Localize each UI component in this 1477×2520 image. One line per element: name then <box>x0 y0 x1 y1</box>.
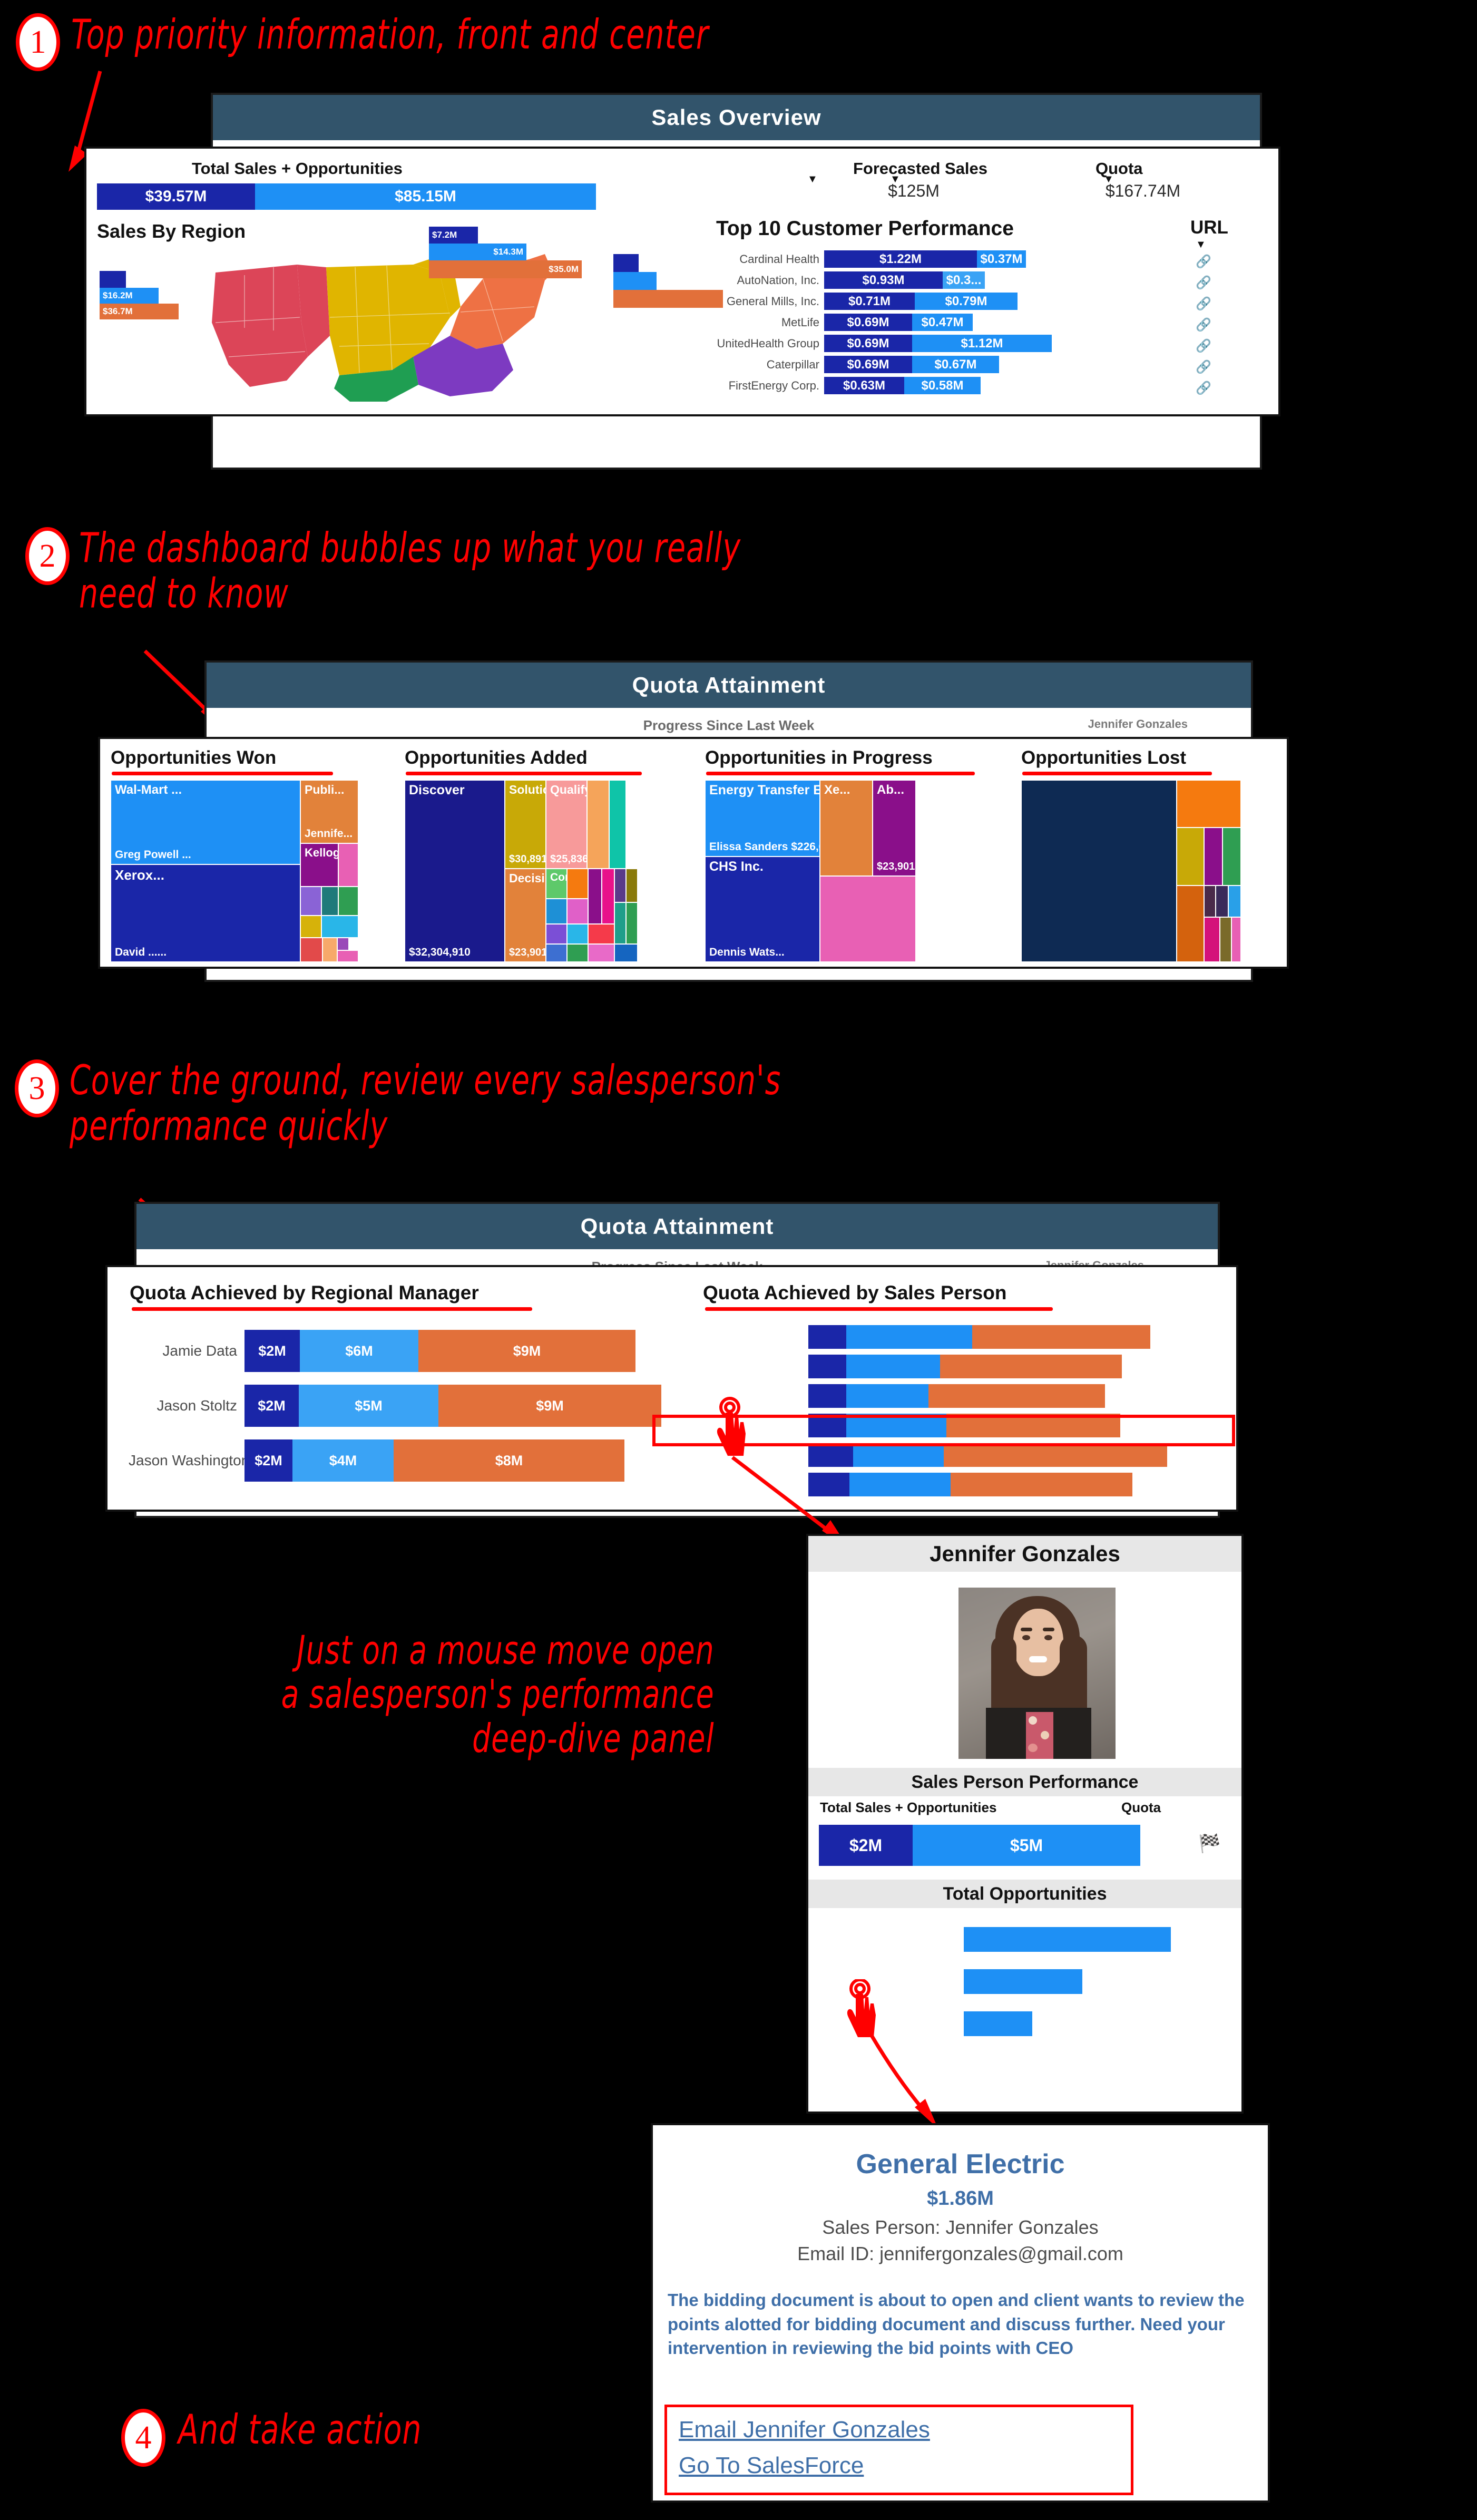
annotation-text-2: The dashboard bubbles up what you really… <box>79 525 741 617</box>
sales-overview-detail-panel[interactable]: Total Sales + Opportunities Forecasted S… <box>84 147 1280 416</box>
title-underline <box>706 772 975 775</box>
sales-segment: $1.22M <box>824 250 977 268</box>
title-underline <box>132 1307 532 1311</box>
treemap-cell <box>300 916 321 938</box>
treemap-cell <box>322 938 337 962</box>
treemap-opportunities-in-progress[interactable]: Energy Transfer Equity... Elissa Sanders… <box>705 780 979 962</box>
treemap-cell <box>614 902 626 944</box>
treemap-cell[interactable]: Kellogg C... <box>300 843 338 887</box>
action-card-message: The bidding document is about to open an… <box>668 2288 1253 2360</box>
treemap-cell <box>321 916 358 938</box>
legend-quota-east <box>613 290 723 308</box>
row-label: Caterpillar <box>711 358 824 372</box>
legend-opportunities-west: $16.2M <box>100 288 159 304</box>
treemap-cell <box>1204 828 1222 886</box>
treemap-cell[interactable] <box>567 944 588 962</box>
opportunities-segment: $0.47M <box>912 314 973 331</box>
map-legend-north: $7.2M $14.3M $35.0M <box>429 227 582 278</box>
sales-segment: $0.63M <box>824 377 904 394</box>
sales-overview-title: Sales Overview <box>213 95 1260 140</box>
treemap-cell[interactable]: Qualify $25,836,8... <box>546 780 587 869</box>
url-column-header: URL <box>1190 217 1228 238</box>
opportunities-segment: $0.37M <box>977 250 1026 268</box>
sales-segment: $2M <box>244 1330 300 1372</box>
quota-bars-detail-panel[interactable]: Quota Achieved by Regional Manager Jamie… <box>105 1265 1238 1512</box>
sales-person-performance-bar[interactable]: $2M $5M <box>819 1825 1140 1866</box>
treemap-cell <box>300 887 321 916</box>
chevron-down-icon-url[interactable]: ▼ <box>1196 239 1206 250</box>
sales-segment <box>808 1384 846 1408</box>
opportunities-segment: $0.58M <box>904 377 981 394</box>
quota-segment <box>951 1473 1132 1496</box>
legend-sales-east <box>613 254 639 272</box>
opportunities-segment <box>846 1325 972 1349</box>
sales-segment: $0.71M <box>824 293 915 310</box>
top10-customer-performance-title: Top 10 Customer Performance <box>716 217 1014 240</box>
regional-manager-chart[interactable]: Jamie Data $2M $6M $9M Jason Stoltz $2M … <box>129 1329 661 1482</box>
url-link-icon-column[interactable]: 🔗 🔗 🔗 🔗 🔗 🔗 🔗 <box>1196 254 1211 402</box>
quota-segment: $8M <box>394 1439 624 1482</box>
chevron-down-icon-total-sales[interactable]: ▼ <box>807 174 818 184</box>
row-label: Cardinal Health <box>711 252 824 266</box>
treemap-cell[interactable] <box>1177 780 1241 828</box>
legend-quota-west: $36.7M <box>100 304 179 319</box>
table-row[interactable]: Jason Washington $2M $4M $8M <box>129 1439 661 1482</box>
table-row[interactable]: Jason Stoltz $2M $5M $9M <box>129 1384 661 1427</box>
row-label: General Mills, Inc. <box>711 295 824 308</box>
treemap-cell[interactable] <box>546 944 567 962</box>
treemap-cell <box>1204 917 1220 962</box>
action-card-amount: $1.86M <box>653 2187 1268 2210</box>
annotation-badge-2: 2 <box>25 527 70 585</box>
link-icon[interactable]: 🔗 <box>1196 317 1211 338</box>
table-row[interactable]: Cardinal Health $1.22M $0.37M <box>711 250 1052 268</box>
sales-by-region-title: Sales By Region <box>97 220 246 242</box>
legend-opportunities-north: $14.3M <box>429 244 526 260</box>
treemap-title-won: Opportunities Won <box>111 747 276 768</box>
treemap-cell[interactable]: Ab... $23,901,... <box>873 780 916 876</box>
sales-segment: $2M <box>244 1439 292 1482</box>
opportunities-segment: $0.79M <box>915 293 1018 310</box>
treemap-cell[interactable] <box>1177 886 1204 962</box>
perf-label-total-sales: Total Sales + Opportunities <box>820 1799 996 1816</box>
sales-person-title: Quota Achieved by Sales Person <box>703 1282 1006 1304</box>
deep-dive-person-name: Jennifer Gonzales <box>808 1536 1241 1572</box>
treemap-cell[interactable]: Xerox... David ...... <box>111 864 300 962</box>
opportunity-bar <box>964 2011 1032 2036</box>
regional-manager-title: Quota Achieved by Regional Manager <box>130 1282 479 1304</box>
kpi-value-quota: $167.74M <box>1064 181 1222 201</box>
treemap-cell <box>588 944 614 962</box>
treemap-cell[interactable]: Discover $32,304,910 <box>405 780 505 962</box>
opportunities-segment: $6M <box>300 1330 418 1372</box>
link-icon[interactable]: 🔗 <box>1196 381 1211 402</box>
kpi-label-forecasted-sales: Forecasted Sales <box>853 159 987 178</box>
table-row[interactable]: MetLife $0.69M $0.47M <box>711 313 1052 332</box>
total-sales-segment: $39.57M <box>97 183 255 210</box>
annotation-text-mouse-move: Just on a mouse move open a salesperson'… <box>21 1629 715 1762</box>
link-icon[interactable]: 🔗 <box>1196 296 1211 317</box>
treemap-cell <box>1216 886 1228 917</box>
action-card-company: General Electric <box>653 2148 1268 2180</box>
table-row[interactable] <box>819 1926 1175 1952</box>
kpi-label-total-sales: Total Sales + Opportunities <box>192 159 403 178</box>
checkered-flag-icon: 🏁 <box>1198 1833 1220 1854</box>
title-underline <box>705 1307 1053 1311</box>
treemap-cell <box>588 924 614 944</box>
opportunities-segment: $5M <box>299 1385 438 1427</box>
treemap-cell <box>321 887 338 916</box>
top10-bar-list[interactable]: Cardinal Health $1.22M $0.37M AutoNation… <box>711 250 1052 395</box>
treemap-opportunities-won[interactable]: Wal-Mart ... Greg Powell ... Xerox... Da… <box>111 780 385 962</box>
treemap-cell <box>300 938 322 962</box>
table-row[interactable] <box>671 1354 1167 1379</box>
link-icon[interactable]: 🔗 <box>1196 254 1211 275</box>
treemap-cell <box>1222 828 1241 886</box>
treemap-opportunities-lost[interactable] <box>1021 780 1269 962</box>
treemap-cell <box>338 843 358 887</box>
treemap-cell[interactable]: Solution $30,891,310 <box>505 780 546 869</box>
opportunities-segment: $0.3... <box>943 271 985 289</box>
table-row[interactable] <box>671 1324 1167 1349</box>
opportunities-segment: $0.67M <box>912 356 999 373</box>
annotation-badge-3: 3 <box>15 1059 59 1117</box>
perf-opportunities-segment: $5M <box>913 1825 1140 1866</box>
quota-attainment-user: Jennifer Gonzales <box>1088 717 1188 731</box>
action-card-email: Email ID: jennifergonzales@gmail.com <box>653 2243 1268 2265</box>
sales-segment: $0.93M <box>824 271 943 289</box>
treemap-detail-panel[interactable]: Opportunities Won Opportunities Added Op… <box>98 737 1289 969</box>
treemap-title-progress: Opportunities in Progress <box>705 747 933 768</box>
treemap-cell <box>1231 917 1241 962</box>
treemap-cell <box>587 780 609 869</box>
quota-segment <box>940 1355 1122 1378</box>
annotation-text-3: Cover the ground, review every salespers… <box>70 1057 781 1149</box>
treemap-cell <box>609 780 626 869</box>
action-card[interactable]: General Electric $1.86M Sales Person: Je… <box>651 2123 1270 2503</box>
treemap-cell[interactable]: Decisi... $23,901,... <box>505 869 546 962</box>
quota-segment <box>972 1325 1150 1349</box>
title-underline <box>406 772 642 775</box>
opportunities-segment: $4M <box>292 1439 394 1482</box>
total-sales-bar[interactable]: $39.57M $85.15M <box>97 183 596 210</box>
treemap-cell[interactable] <box>567 924 588 944</box>
legend-opportunities-east <box>613 272 657 290</box>
treemap-cell <box>337 950 358 962</box>
treemap-cell[interactable] <box>546 924 567 944</box>
perf-sales-segment: $2M <box>819 1825 913 1866</box>
treemap-cell <box>337 938 349 950</box>
table-row[interactable]: AutoNation, Inc. $0.93M $0.3... <box>711 271 1052 289</box>
legend-sales-west <box>100 271 126 288</box>
table-row[interactable]: General Mills, Inc. $0.71M $0.79M <box>711 292 1052 310</box>
table-row[interactable]: Caterpillar $0.69M $0.67M <box>711 355 1052 374</box>
title-underline <box>1022 772 1212 775</box>
treemap-title-added: Opportunities Added <box>405 747 588 768</box>
action-links-box[interactable]: Email Jennifer Gonzales Go To SalesForce <box>664 2405 1133 2495</box>
table-row[interactable]: Jamie Data $2M $6M $9M <box>129 1329 661 1373</box>
email-jennifer-gonzales-link[interactable]: Email Jennifer Gonzales <box>679 2417 1119 2443</box>
treemap-cell <box>1228 886 1241 917</box>
treemap-cell[interactable]: Publi... Jennife... <box>300 780 358 843</box>
treemap-cell[interactable] <box>546 899 567 924</box>
annotation-text-1: Top priority information, front and cent… <box>71 12 709 57</box>
treemap-cell <box>1220 917 1231 962</box>
annotation-arrow-to-action <box>864 2029 959 2135</box>
sales-segment: $0.69M <box>824 314 912 331</box>
treemap-cell <box>1204 886 1216 917</box>
quota-segment <box>944 1443 1167 1467</box>
row-label: Jason Washington <box>129 1452 244 1469</box>
sales-segment: $0.69M <box>824 356 912 373</box>
opportunities-segment <box>846 1355 940 1378</box>
row-label: Jamie Data <box>129 1342 244 1359</box>
row-label: UnitedHealth Group <box>711 337 824 351</box>
map-legend-west: $16.2M $36.7M <box>100 271 179 319</box>
sales-person-performance-band: Sales Person Performance <box>808 1768 1241 1796</box>
treemap-cell <box>588 869 602 924</box>
legend-quota-north: $35.0M <box>429 260 582 278</box>
link-icon[interactable]: 🔗 <box>1196 338 1211 359</box>
opportunities-segment: $1.12M <box>912 335 1052 352</box>
avatar <box>958 1588 1116 1759</box>
treemap-cell <box>338 887 358 916</box>
treemap-cell[interactable]: Energy Transfer Equity... Elissa Sanders… <box>705 780 820 857</box>
treemap-cell[interactable] <box>820 876 916 962</box>
total-opportunities-segment: $85.15M <box>255 183 596 210</box>
map-legend-east <box>613 254 723 308</box>
treemap-cell <box>626 902 638 944</box>
annotation-text-4: And take action <box>178 2407 422 2453</box>
treemap-cell[interactable]: CHS Inc. Dennis Wats... <box>705 857 820 962</box>
quota-segment: $9M <box>418 1330 635 1372</box>
treemap-cell <box>626 869 638 902</box>
opportunity-bar <box>964 1927 1171 1952</box>
treemap-opportunities-added[interactable]: Discover $32,304,910 Solution $30,891,31… <box>405 780 679 962</box>
row-label: AutoNation, Inc. <box>711 274 824 287</box>
title-underline <box>112 772 333 775</box>
link-icon[interactable]: 🔗 <box>1196 359 1211 381</box>
total-opportunities-band: Total Opportunities <box>808 1880 1241 1908</box>
quota-attainment-title: Quota Attainment <box>207 663 1251 708</box>
treemap-cell <box>614 944 638 962</box>
table-row[interactable]: UnitedHealth Group $0.69M $1.12M <box>711 334 1052 353</box>
treemap-cell[interactable]: Wal-Mart ... Greg Powell ... <box>111 780 300 864</box>
treemap-cell <box>602 869 614 924</box>
opportunities-segment <box>846 1384 928 1408</box>
treemap-title-lost: Opportunities Lost <box>1021 747 1186 768</box>
sales-segment <box>808 1325 846 1349</box>
treemap-cell[interactable]: Xe... <box>820 780 873 876</box>
treemap-cell <box>614 869 626 902</box>
row-label: MetLife <box>711 316 824 329</box>
opportunity-bar <box>964 1969 1082 1994</box>
table-row[interactable]: FirstEnergy Corp. $0.63M $0.58M <box>711 376 1052 395</box>
quota-attainment-title-2: Quota Attainment <box>136 1204 1218 1249</box>
opportunities-segment <box>849 1473 951 1496</box>
annotation-badge-1: 1 <box>16 13 60 71</box>
kpi-label-quota: Quota <box>1095 159 1143 178</box>
treemap-cell[interactable] <box>567 869 588 899</box>
sales-segment <box>808 1355 846 1378</box>
legend-sales-north: $7.2M <box>429 227 478 244</box>
treemap-cell[interactable] <box>1177 828 1204 886</box>
opportunities-segment <box>853 1443 944 1467</box>
quota-segment: $9M <box>438 1385 661 1427</box>
action-card-salesperson: Sales Person: Jennifer Gonzales <box>653 2216 1268 2239</box>
treemap-cell[interactable]: Commit <box>546 869 567 899</box>
treemap-cell[interactable] <box>1021 780 1177 962</box>
annotation-badge-4: 4 <box>121 2409 165 2467</box>
quota-segment <box>928 1384 1105 1408</box>
kpi-value-forecasted-sales: $125M <box>845 181 982 201</box>
perf-label-quota: Quota <box>1121 1799 1161 1816</box>
link-icon[interactable]: 🔗 <box>1196 275 1211 296</box>
treemap-cell[interactable] <box>567 899 588 924</box>
row-label: Jason Stoltz <box>129 1397 244 1414</box>
row-label: FirstEnergy Corp. <box>711 379 824 393</box>
sales-segment: $0.69M <box>824 335 912 352</box>
go-to-salesforce-link[interactable]: Go To SalesForce <box>679 2453 1119 2479</box>
sales-segment: $2M <box>244 1385 299 1427</box>
